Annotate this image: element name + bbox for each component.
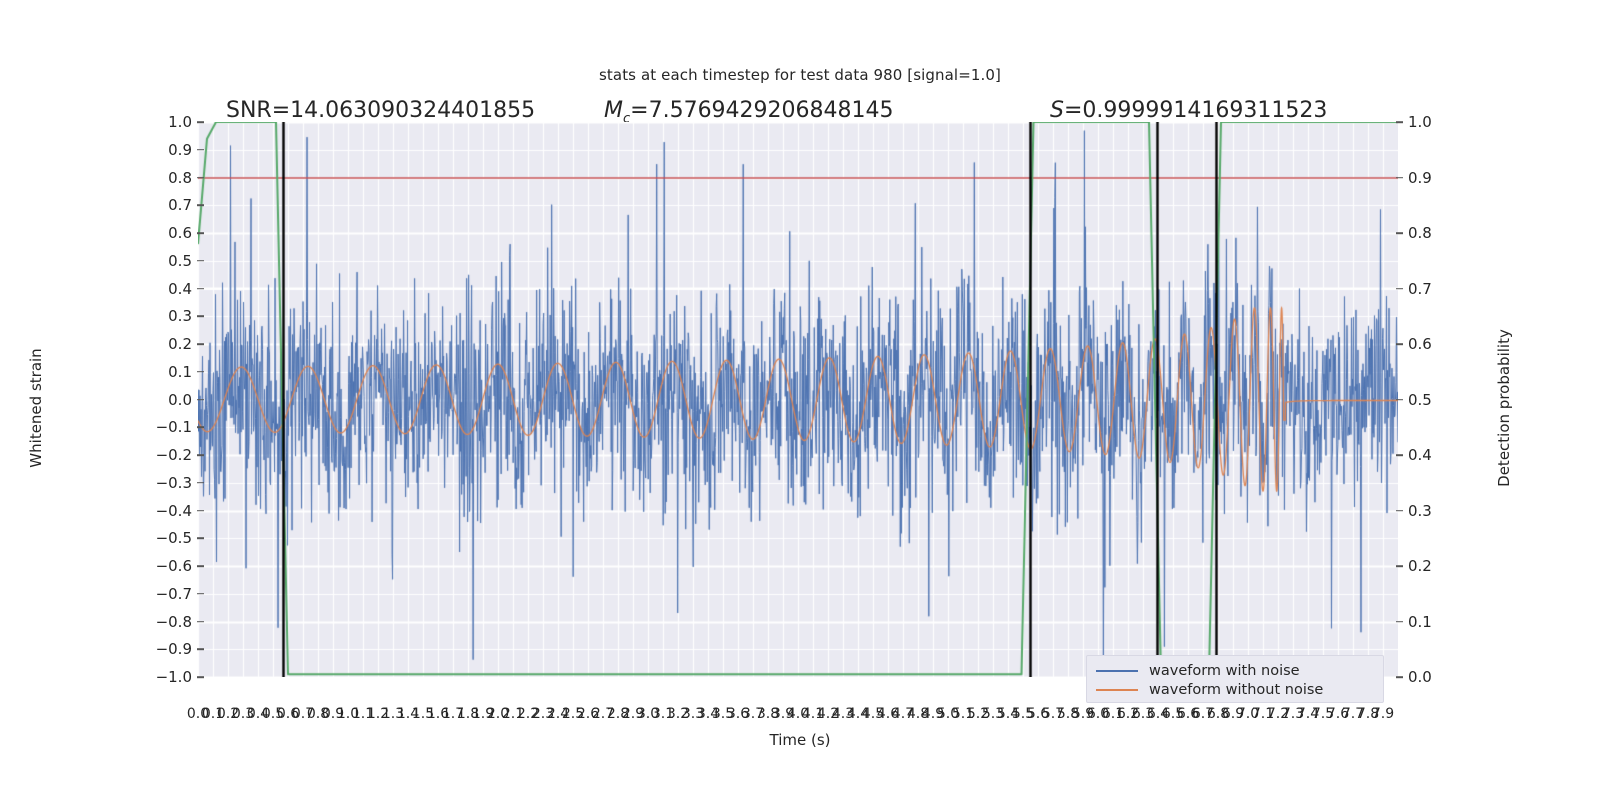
y-tick-left: 0.2 <box>72 335 192 353</box>
tick-mark <box>197 399 204 401</box>
y-tick-left: 0.0 <box>72 391 192 409</box>
plot-data <box>198 122 1398 677</box>
y-tick-left: 0.3 <box>72 307 192 325</box>
annotation-s-value: 0.9999914169311523 <box>1082 98 1327 123</box>
tick-mark <box>197 565 204 567</box>
legend-item-noise: waveform with noise <box>1096 661 1374 680</box>
legend-swatch-signal <box>1096 689 1138 691</box>
legend-item-signal: waveform without noise <box>1096 680 1374 699</box>
legend-label-signal: waveform without noise <box>1149 682 1323 698</box>
tick-mark <box>1396 565 1403 567</box>
tick-mark <box>197 593 204 595</box>
y-axis-right-label: Detection probability <box>1495 288 1513 528</box>
tick-mark <box>1396 177 1403 179</box>
tick-mark <box>1396 121 1403 123</box>
tick-mark <box>197 510 204 512</box>
tick-mark <box>1396 454 1403 456</box>
tick-mark <box>197 426 204 428</box>
legend: waveform with noise waveform without noi… <box>1086 655 1384 703</box>
tick-mark <box>1396 288 1403 290</box>
y-tick-right: 0.9 <box>1408 169 1538 187</box>
y-tick-left: 0.7 <box>72 196 192 214</box>
tick-mark <box>197 454 204 456</box>
y-tick-left: −0.6 <box>72 557 192 575</box>
y-tick-left: −0.7 <box>72 585 192 603</box>
y-tick-right: 0.0 <box>1408 668 1538 686</box>
tick-mark <box>197 648 204 650</box>
y-tick-left: −0.8 <box>72 613 192 631</box>
tick-mark <box>1396 676 1403 678</box>
y-tick-left: 0.8 <box>72 169 192 187</box>
tick-mark <box>197 621 204 623</box>
tick-mark <box>197 260 204 262</box>
y-tick-left: −0.3 <box>72 474 192 492</box>
annotation-snr-label: SNR= <box>226 98 290 123</box>
y-axis-left-label: Whitened strain <box>27 298 45 518</box>
y-tick-right: 0.7 <box>1408 280 1538 298</box>
x-tick: 7.9 <box>1372 706 1394 722</box>
y-tick-right: 0.1 <box>1408 613 1538 631</box>
page-title: stats at each timestep for test data 980… <box>0 66 1600 84</box>
y-tick-right: 0.4 <box>1408 446 1538 464</box>
tick-mark <box>197 177 204 179</box>
y-tick-left: 0.5 <box>72 252 192 270</box>
y-tick-left: −0.1 <box>72 418 192 436</box>
annotation-mc-value: 7.5769429206848145 <box>649 98 894 123</box>
x-axis-label: Time (s) <box>0 731 1600 749</box>
plot-area <box>198 122 1398 677</box>
legend-label-noise: waveform with noise <box>1149 663 1300 679</box>
annotation-score: S=0.9999914169311523 <box>1050 98 1327 123</box>
annotation-mc-label: = <box>630 98 648 123</box>
y-tick-right: 0.2 <box>1408 557 1538 575</box>
tick-mark <box>1396 621 1403 623</box>
y-tick-left: 0.9 <box>72 141 192 159</box>
tick-mark <box>197 676 204 678</box>
y-tick-left: 0.4 <box>72 280 192 298</box>
tick-mark <box>197 315 204 317</box>
tick-mark <box>1396 399 1403 401</box>
y-tick-left: −1.0 <box>72 668 192 686</box>
y-tick-left: −0.4 <box>72 502 192 520</box>
tick-mark <box>197 204 204 206</box>
annotation-mc-symbol: M <box>604 98 623 123</box>
y-tick-right: 1.0 <box>1408 113 1538 131</box>
annotation-snr-value: 14.063090324401855 <box>290 98 535 123</box>
tick-mark <box>197 232 204 234</box>
annotation-snr: SNR=14.063090324401855 <box>226 98 535 123</box>
y-tick-left: −0.2 <box>72 446 192 464</box>
tick-mark <box>1396 232 1403 234</box>
y-tick-right: 0.6 <box>1408 335 1538 353</box>
tick-mark <box>197 121 204 123</box>
y-tick-right: 0.5 <box>1408 391 1538 409</box>
y-tick-left: −0.9 <box>72 640 192 658</box>
tick-mark <box>197 343 204 345</box>
annotation-s-symbol: S <box>1050 98 1064 123</box>
legend-swatch-noise <box>1096 670 1138 672</box>
y-tick-right: 0.3 <box>1408 502 1538 520</box>
tick-mark <box>197 371 204 373</box>
tick-mark <box>1396 343 1403 345</box>
annotation-s-label: = <box>1064 98 1082 123</box>
tick-mark <box>1396 510 1403 512</box>
y-tick-left: 1.0 <box>72 113 192 131</box>
tick-mark <box>197 482 204 484</box>
tick-mark <box>197 149 204 151</box>
y-tick-left: 0.1 <box>72 363 192 381</box>
y-tick-right: 0.8 <box>1408 224 1538 242</box>
y-tick-left: −0.5 <box>72 529 192 547</box>
tick-mark <box>197 537 204 539</box>
y-tick-left: 0.6 <box>72 224 192 242</box>
tick-mark <box>197 288 204 290</box>
